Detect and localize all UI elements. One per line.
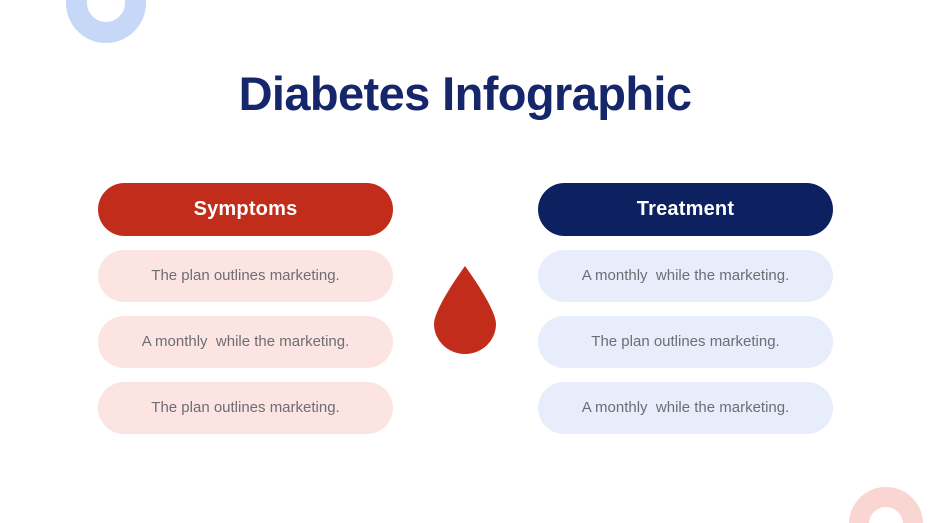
list-item[interactable]: The plan outlines marketing. [538, 316, 833, 368]
list-item[interactable]: A monthly while the marketing. [538, 382, 833, 434]
list-item[interactable]: The plan outlines marketing. [98, 382, 393, 434]
page-title: Diabetes Infographic [0, 66, 930, 122]
ring-decoration-top-left-icon [66, 0, 146, 43]
list-item[interactable]: A monthly while the marketing. [98, 316, 393, 368]
list-item[interactable]: A monthly while the marketing. [538, 250, 833, 302]
column-header-treatment[interactable]: Treatment [538, 183, 833, 236]
ring-decoration-bottom-right-icon [849, 487, 923, 523]
column-header-symptoms[interactable]: Symptoms [98, 183, 393, 236]
blood-drop-icon [434, 266, 496, 354]
list-item[interactable]: The plan outlines marketing. [98, 250, 393, 302]
infographic-slide: Diabetes Infographic Symptoms The plan o… [0, 0, 930, 523]
column-symptoms: Symptoms The plan outlines marketing. A … [98, 183, 393, 448]
column-treatment: Treatment A monthly while the marketing.… [538, 183, 833, 448]
